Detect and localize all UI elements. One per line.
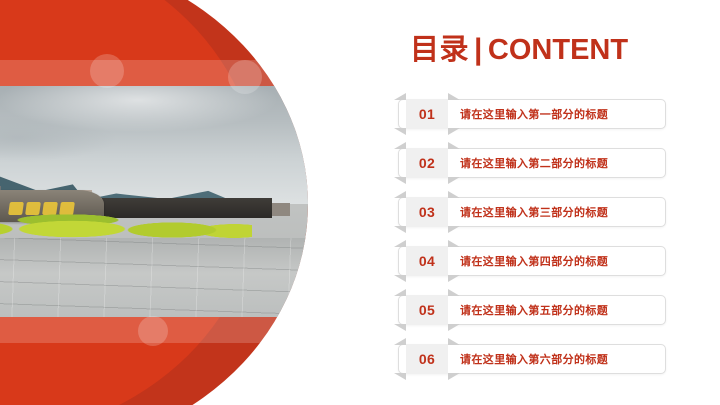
ribbon-notch-icon [394, 338, 406, 345]
toc-item-number-cell: 01 [406, 99, 448, 129]
page-title-cn: 目录 [410, 34, 469, 66]
ribbon-notch-icon [394, 373, 406, 380]
ribbon-notch-icon [448, 338, 460, 345]
ribbon-notch-icon [448, 373, 460, 380]
ribbon-notch-icon [394, 240, 406, 247]
decorative-circle [138, 316, 168, 346]
toc-item-number-cell: 03 [406, 197, 448, 227]
ribbon-notch-icon [394, 177, 406, 184]
toc-item-number: 02 [419, 155, 435, 171]
toc-item-02[interactable]: 02 请在这里输入第二部分的标题 [392, 148, 666, 178]
toc-item-01[interactable]: 01 请在这里输入第一部分的标题 [392, 99, 666, 129]
page-title-en: CONTENT [488, 34, 628, 66]
ribbon-notch-icon [448, 128, 460, 135]
toc-item-number: 01 [419, 106, 435, 122]
left-artwork [0, 0, 360, 405]
campus-photo [0, 86, 308, 317]
ribbon-notch-icon [448, 289, 460, 296]
toc-item-04[interactable]: 04 请在这里输入第四部分的标题 [392, 246, 666, 276]
ribbon-notch-icon [394, 142, 406, 149]
toc-item-label: 请在这里输入第一部分的标题 [460, 99, 608, 129]
decorative-circle [228, 60, 262, 94]
toc-item-number-cell: 06 [406, 344, 448, 374]
toc-item-label: 请在这里输入第二部分的标题 [460, 148, 608, 178]
toc-item-number-cell: 05 [406, 295, 448, 325]
ribbon-notch-icon [394, 289, 406, 296]
toc-item-05[interactable]: 05 请在这里输入第五部分的标题 [392, 295, 666, 325]
page-title-separator: | [469, 33, 488, 66]
toc-item-number-cell: 04 [406, 246, 448, 276]
photo-hedge [0, 218, 252, 240]
ribbon-notch-icon [394, 93, 406, 100]
toc-item-label: 请在这里输入第六部分的标题 [460, 344, 608, 374]
ribbon-notch-icon [448, 177, 460, 184]
ribbon-notch-icon [394, 275, 406, 282]
toc-item-number-cell: 02 [406, 148, 448, 178]
ribbon-notch-icon [448, 275, 460, 282]
toc-item-label: 请在这里输入第三部分的标题 [460, 197, 608, 227]
ribbon-notch-icon [394, 128, 406, 135]
toc-item-03[interactable]: 03 请在这里输入第三部分的标题 [392, 197, 666, 227]
ribbon-notch-icon [394, 191, 406, 198]
decorative-circle [90, 54, 124, 88]
ribbon-notch-icon [394, 226, 406, 233]
toc-item-label: 请在这里输入第四部分的标题 [460, 246, 608, 276]
toc-item-number: 04 [419, 253, 435, 269]
ribbon-notch-icon [448, 324, 460, 331]
ribbon-notch-icon [448, 226, 460, 233]
photo-strip [0, 86, 308, 317]
content-panel: 目录|CONTENT 01 请在这里输入第一部分的标题 [360, 0, 720, 405]
photo-plaza-pavement [0, 238, 308, 317]
ribbon-notch-icon [394, 324, 406, 331]
toc-item-number: 05 [419, 302, 435, 318]
slide: 目录|CONTENT 01 请在这里输入第一部分的标题 [0, 0, 720, 405]
toc-item-number: 03 [419, 204, 435, 220]
toc-item-number: 06 [419, 351, 435, 367]
page-title: 目录|CONTENT [410, 26, 628, 68]
toc-item-06[interactable]: 06 请在这里输入第六部分的标题 [392, 344, 666, 374]
table-of-contents: 01 请在这里输入第一部分的标题 02 请在这里输入第二部分的标题 [392, 99, 666, 393]
toc-item-label: 请在这里输入第五部分的标题 [460, 295, 608, 325]
